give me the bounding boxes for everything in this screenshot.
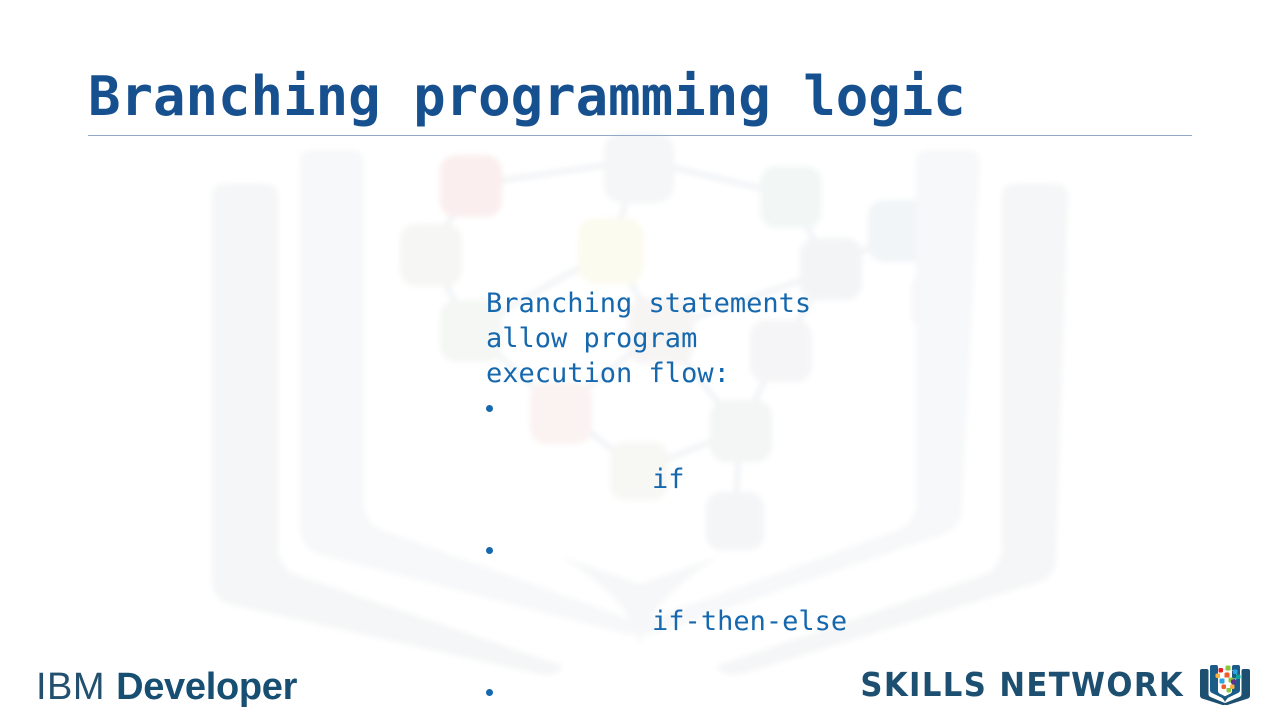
list-item: if-then-else [486, 533, 847, 675]
branching-statement-list: if if-then-else Switch GoTo [486, 391, 847, 720]
open-book-network-icon [1198, 662, 1252, 706]
developer-wordmark: Developer [116, 666, 297, 709]
ibm-developer-logo: IBM Developer [36, 666, 297, 709]
list-item: if [486, 391, 847, 533]
body-paragraph-line-3: execution flow: [486, 356, 847, 391]
list-item: Switch [486, 675, 847, 720]
body-paragraph-line-2: allow program [486, 321, 847, 356]
list-item-label: if-then-else [652, 606, 847, 637]
list-item-label: if [652, 464, 685, 495]
bullet-icon [486, 405, 493, 412]
bullet-icon [486, 689, 493, 696]
bullet-icon [486, 547, 493, 554]
slide-canvas: Branching programming logic Branching st… [0, 0, 1280, 720]
page-title: Branching programming logic [88, 66, 1192, 128]
body-paragraph-line-1: Branching statements [486, 286, 847, 321]
skills-network-logo: SKILLS NETWORK [836, 662, 1252, 706]
title-divider [88, 135, 1192, 136]
body-content: Branching statements allow program execu… [486, 286, 847, 720]
skills-network-wordmark: SKILLS NETWORK [860, 665, 1184, 704]
title-block: Branching programming logic [88, 66, 1192, 136]
ibm-wordmark: IBM [36, 666, 105, 709]
